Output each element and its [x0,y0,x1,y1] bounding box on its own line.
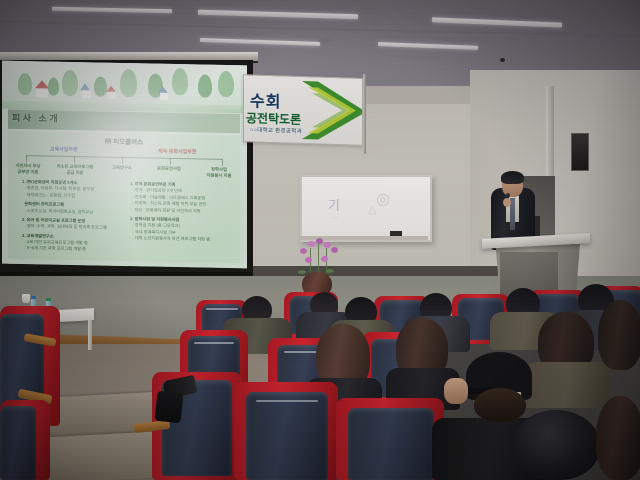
tree-icon [62,70,78,96]
bottle-cap [31,296,36,299]
tree-icon [172,68,188,95]
ceiling-fixture [318,38,332,43]
tree-icon [198,74,212,97]
chevron-logo-icon [298,79,363,143]
slide-header-art [2,61,247,114]
audience-hair [598,300,640,370]
whiteboard-marking: ◎ [376,189,390,209]
presenter-hair [501,171,524,184]
orchid-bloom [308,241,315,247]
org-chart-box: 서민자녀 무상공부방 지원 [8,163,48,175]
seat-backrest [246,392,328,480]
paper-cup [22,294,30,303]
house-icon [82,89,91,98]
leaf-icon [298,270,306,274]
orchid-bloom [331,247,338,253]
house-roof-icon [35,80,49,88]
whiteboard-eraser [390,231,402,236]
orchid-bloom [321,256,328,262]
whiteboard-marking: △ [368,203,376,216]
org-chart-box: 문화공연사업 [148,165,190,172]
org-chart-line [222,159,223,166]
org-chart-box: 장학사업자원봉사 지원 [198,166,240,178]
house-roof-icon [80,83,90,90]
ceiling-fixture [370,22,380,26]
audience-head [474,388,526,422]
seat-highlight [206,308,238,310]
whiteboard-marking: ~ [332,213,337,224]
seat-highlight [194,342,234,344]
seat-backrest [0,406,36,480]
slide-title: 피사 소개 [12,111,60,125]
org-chart-line [122,157,123,164]
seat-backrest [348,408,434,480]
wall-speaker-icon [571,133,589,171]
org-chart-line [26,155,27,162]
slide-right-bullets: 1. 지역 문화공연부문 기획 - 연극 · 뮤지컬공연 2개 단체 - 전시회… [130,181,236,243]
projector-screen: 피사 소개 ㈜ 피오플러스 교육사업부문 체육·문화사업부문 서민자녀 무상공부… [2,61,247,269]
house-icon [108,91,116,99]
whiteboard: 기 ◎ △ ~ [300,175,432,242]
org-chart-line [74,156,75,163]
tree-icon [18,73,32,95]
slide-subtitle: ㈜ 피오플러스 [8,134,240,148]
slide-body: ㈜ 피오플러스 교육사업부문 체육·문화사업부문 서민자녀 무상공부방 지원 저… [8,130,240,263]
table-leg [88,320,92,350]
audience-boot [155,391,184,424]
audience-shoulders [524,362,610,408]
audience-hand [444,378,468,404]
whiteboard-marking: 기 [328,195,340,214]
house-icon [36,87,48,97]
seat-highlight [256,400,318,402]
orchid-bloom [305,257,312,263]
house-roof-icon [158,87,168,93]
orchid-bloom [316,238,323,244]
tree-icon [120,69,137,97]
audience-head [512,410,600,480]
tree-icon [218,71,234,97]
org-chart-box: 저소득 교육프로그램공급 지원 [52,164,98,176]
house-icon [160,92,168,100]
banner-line-3: ○○대학교 환경공학과 [250,125,302,135]
slide-left-bullets: 1. ㈜O문화센터 직접운영 5개소 - 평촌점, 의정부, 다사점, 목포점,… [22,179,122,254]
slide-branch-label-culture: 체육·문화사업부문 [158,148,196,156]
house-roof-icon [106,86,116,92]
bottle-cap [46,298,51,301]
org-chart-box: 교육연구소 [104,165,140,171]
ceiling-fixture [504,36,516,40]
lecture-hall-photo: 피사 소개 ㈜ 피오플러스 교육사업부문 체육·문화사업부문 서민자녀 무상공부… [0,0,640,480]
tree-icon [48,78,59,96]
org-chart-line [170,158,171,165]
presenter-hand [503,198,511,207]
ceiling-fixture [500,58,505,62]
slide-branch-label-education: 교육사업부문 [50,146,78,154]
audience-hair [596,396,640,480]
banner-pole [363,74,366,154]
org-chart-line [26,155,222,160]
wall-banner: 수회 공전탁도론 ○○대학교 환경공학과 [243,74,363,146]
leaf-icon [326,269,334,273]
orchid-bloom [300,248,307,254]
orchid-bloom [324,242,331,248]
